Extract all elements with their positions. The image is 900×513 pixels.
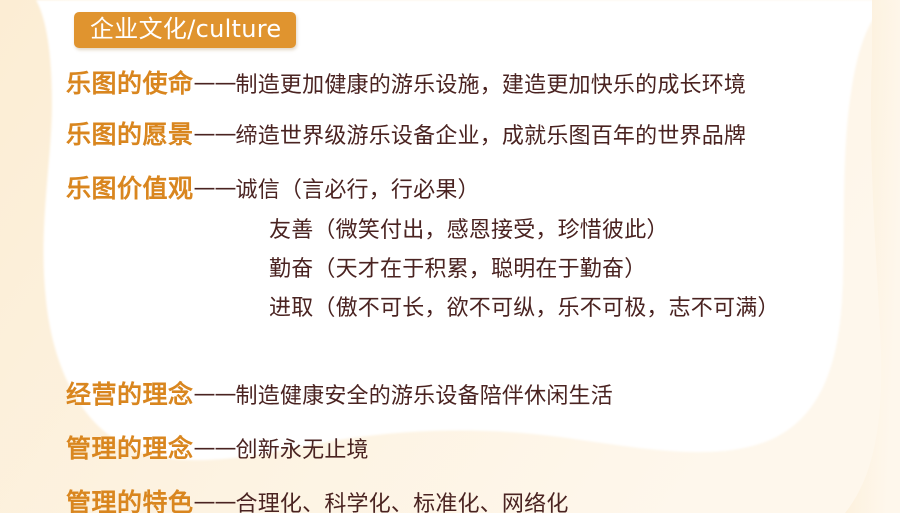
row-text-values: 诚信（言必行，行必果）	[236, 172, 480, 204]
culture-row-feature: 管理的特色 —— 合理化、科学化、标准化、网络化	[66, 483, 866, 513]
row-dash-operation: ——	[194, 382, 236, 407]
group-spacer	[66, 322, 866, 350]
row-dash-management: ——	[194, 436, 236, 461]
row-label-vision: 乐图的愿景	[66, 115, 194, 151]
culture-row-management: 管理的理念 —— 创新永无止境	[66, 429, 866, 465]
values-sub-line-diligence: 勤奋（天才在于积累，聪明在于勤奋）	[269, 251, 866, 283]
row-text-management: 创新永无止境	[236, 432, 369, 464]
row-text-feature: 合理化、科学化、标准化、网络化	[236, 486, 569, 513]
slide-content: 企业文化/culture 乐图的使命 —— 制造更加健康的游乐设施，建造更加快乐…	[0, 0, 900, 513]
values-sub-line-enterprising: 进取（傲不可长，欲不可纵，乐不可极，志不可满）	[269, 290, 866, 322]
row-dash-values: ——	[194, 176, 236, 201]
row-label-values: 乐图价值观	[66, 169, 194, 205]
row-dash-vision: ——	[194, 122, 236, 147]
row-label-feature: 管理的特色	[66, 483, 194, 513]
row-label-management: 管理的理念	[66, 429, 194, 465]
row-text-mission: 制造更加健康的游乐设施，建造更加快乐的成长环境	[236, 67, 747, 99]
culture-row-vision: 乐图的愿景 —— 缔造世界级游乐设备企业，成就乐图百年的世界品牌	[66, 115, 866, 151]
row-text-vision: 缔造世界级游乐设备企业，成就乐图百年的世界品牌	[236, 118, 747, 150]
row-label-operation: 经营的理念	[66, 375, 194, 411]
row-dash-mission: ——	[194, 71, 236, 96]
section-title-badge: 企业文化/culture	[74, 12, 296, 48]
values-sub-line-kindness: 友善（微笑付出，感恩接受，珍惜彼此）	[269, 212, 866, 244]
culture-row-mission: 乐图的使命 —— 制造更加健康的游乐设施，建造更加快乐的成长环境	[66, 64, 866, 100]
row-dash-feature: ——	[194, 490, 236, 513]
row-label-mission: 乐图的使命	[66, 64, 194, 100]
culture-list: 乐图的使命 —— 制造更加健康的游乐设施，建造更加快乐的成长环境 乐图的愿景 —…	[66, 64, 866, 513]
culture-row-operation: 经营的理念 —— 制造健康安全的游乐设备陪伴休闲生活	[66, 375, 866, 411]
section-title-text: 企业文化/culture	[90, 17, 282, 41]
culture-row-values: 乐图价值观 —— 诚信（言必行，行必果）	[66, 169, 866, 205]
row-text-operation: 制造健康安全的游乐设备陪伴休闲生活	[236, 378, 613, 410]
